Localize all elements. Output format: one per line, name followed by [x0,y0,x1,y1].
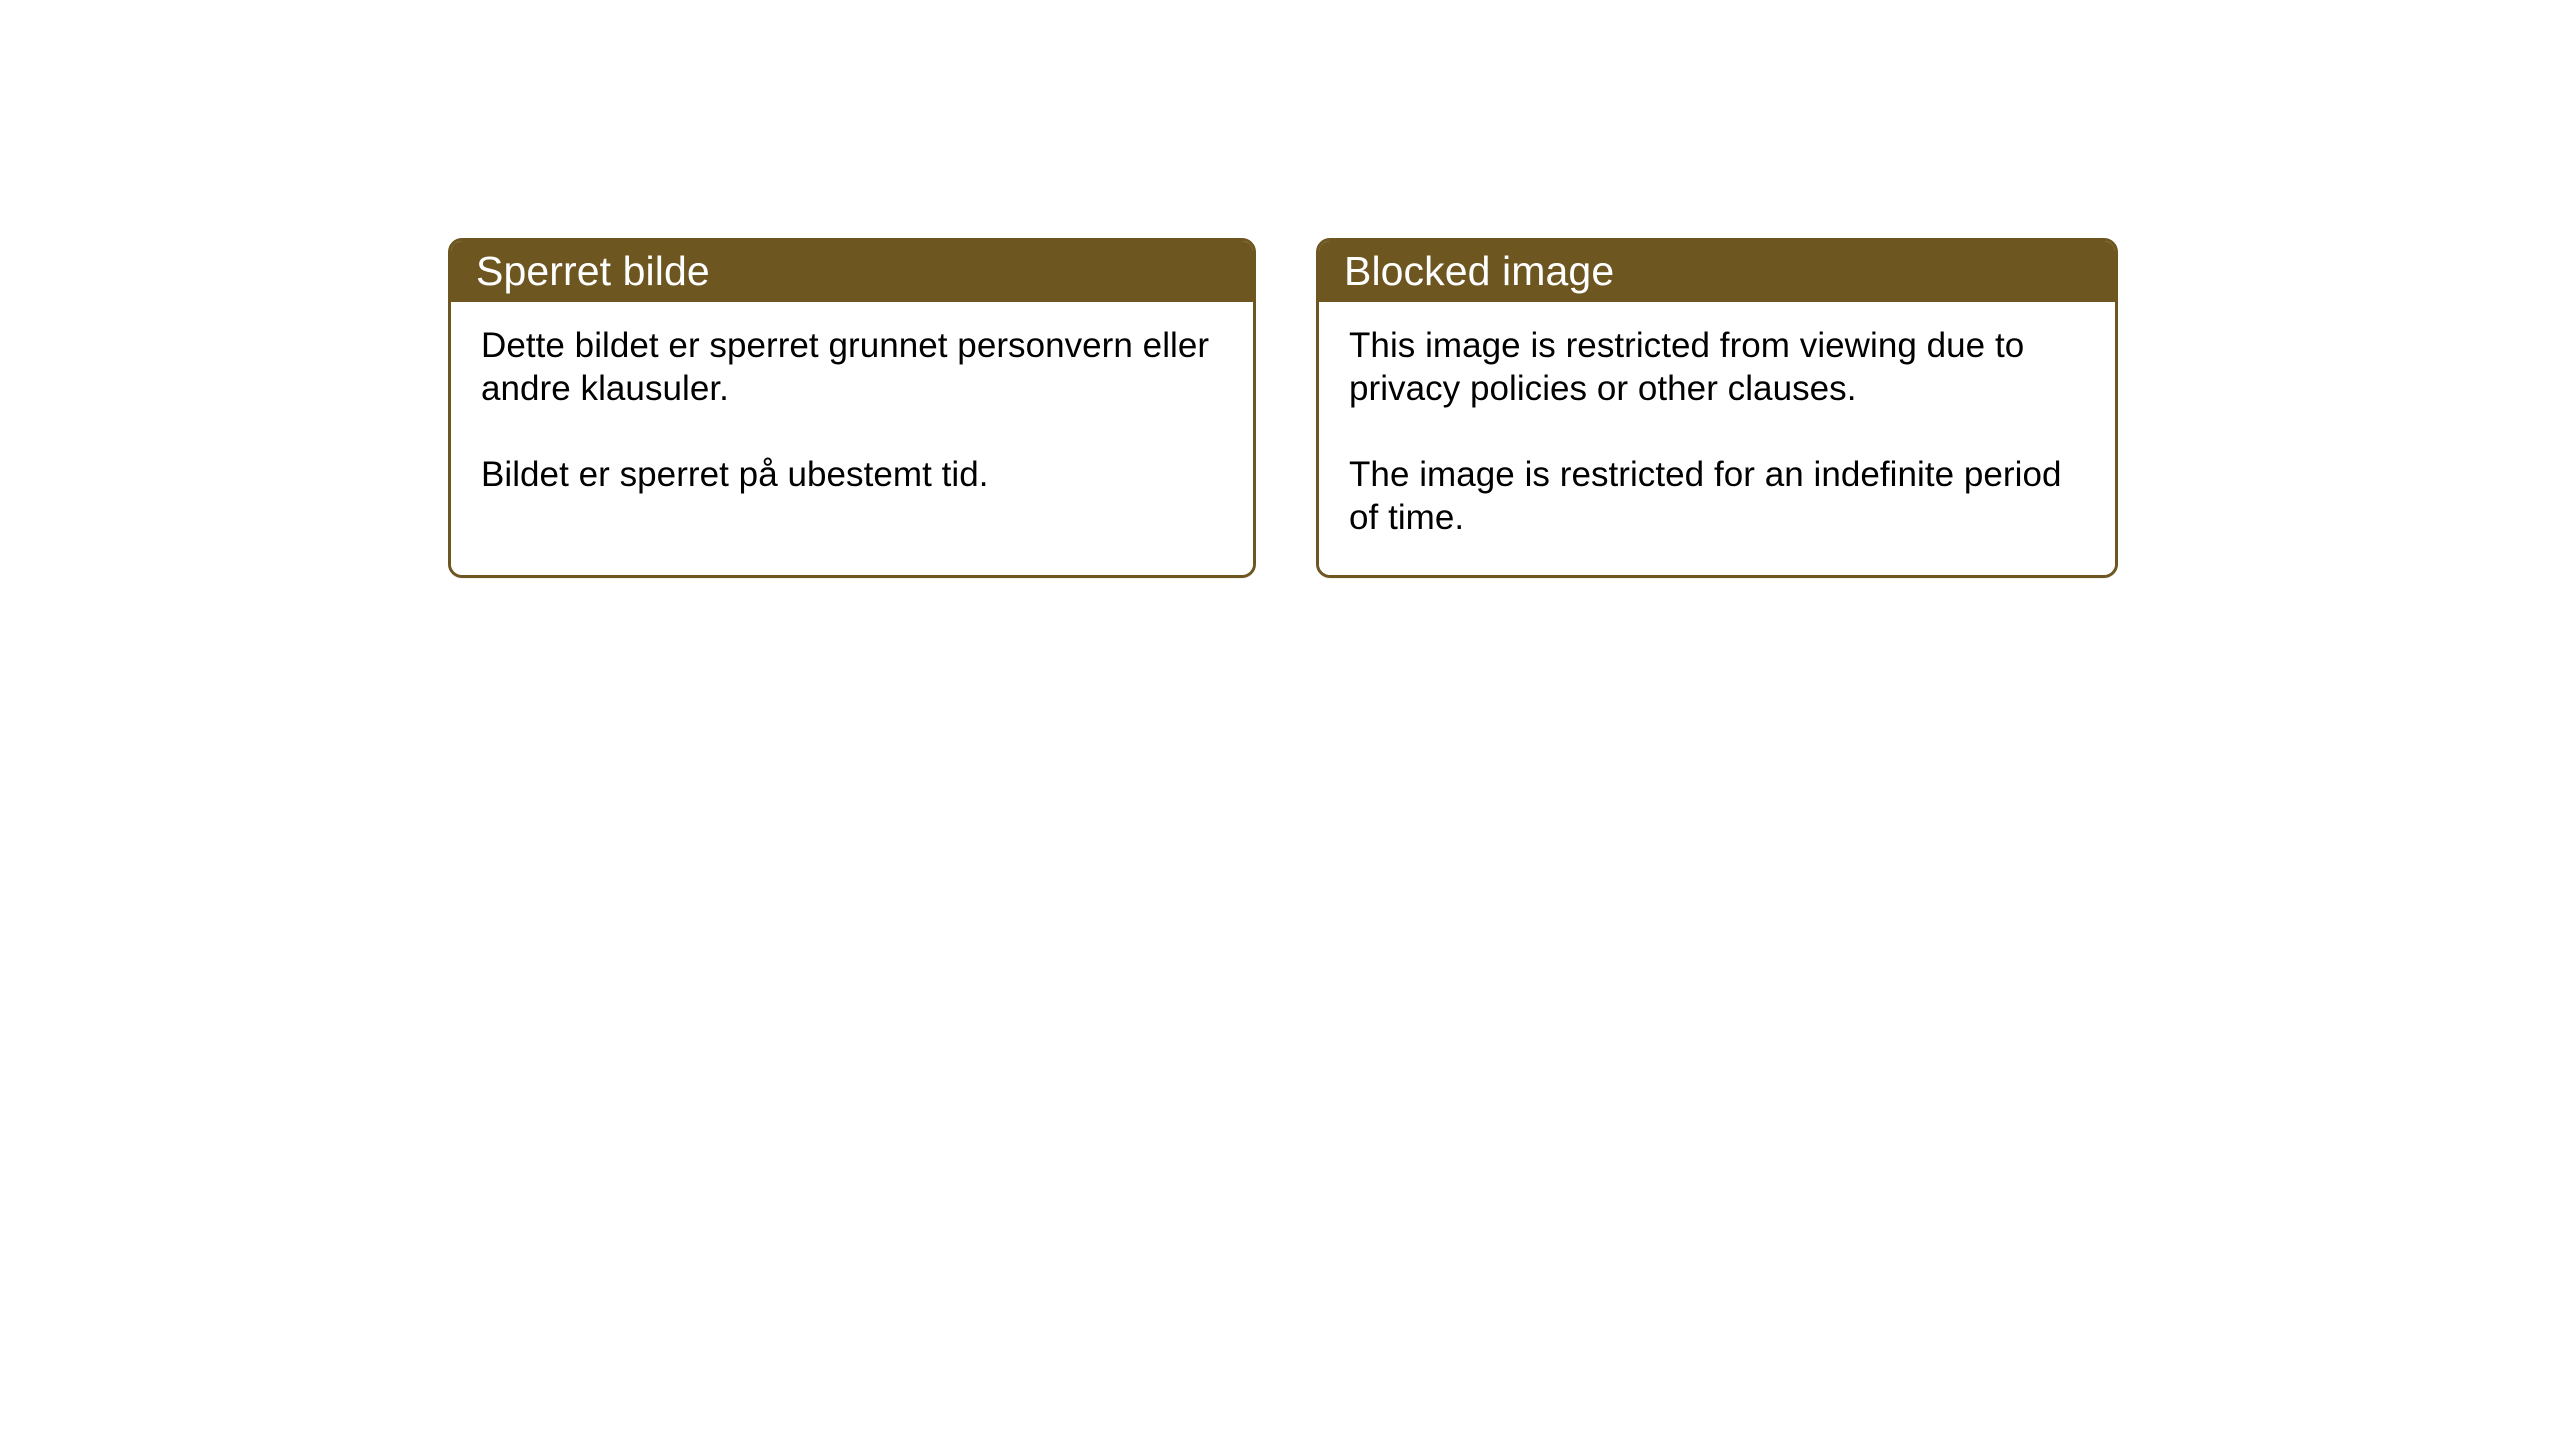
card-paragraph-secondary-english: The image is restricted for an indefinit… [1349,453,2087,539]
card-title-english: Blocked image [1344,251,1614,292]
card-body-norwegian: Dette bildet er sperret grunnet personve… [451,302,1253,575]
paragraph-spacer [481,410,1225,453]
blocked-image-notice-card-norwegian: Sperret bilde Dette bildet er sperret gr… [448,238,1256,578]
paragraph-spacer [1349,410,2087,453]
card-paragraph-primary-english: This image is restricted from viewing du… [1349,324,2087,410]
card-body-english: This image is restricted from viewing du… [1319,302,2115,575]
card-header-norwegian: Sperret bilde [450,240,1254,302]
card-header-english: Blocked image [1318,240,2116,302]
card-paragraph-primary-norwegian: Dette bildet er sperret grunnet personve… [481,324,1225,410]
blocked-image-notice-card-english: Blocked image This image is restricted f… [1316,238,2118,578]
card-paragraph-secondary-norwegian: Bildet er sperret på ubestemt tid. [481,453,1225,496]
blocked-image-notices: Sperret bilde Dette bildet er sperret gr… [448,238,2118,578]
card-title-norwegian: Sperret bilde [476,251,710,292]
